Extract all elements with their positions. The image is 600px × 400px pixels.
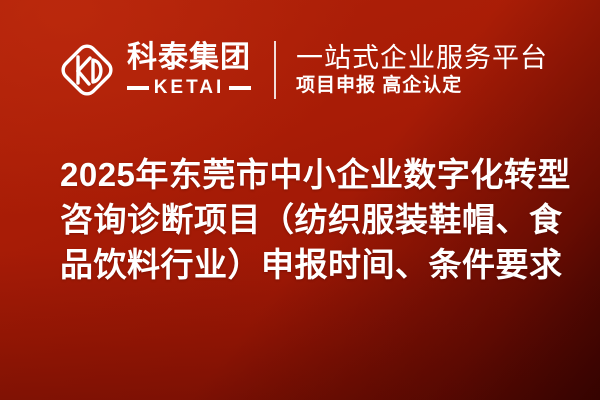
tagline-primary: 一站式企业服务平台	[296, 44, 548, 72]
company-name-en: KETAI	[154, 78, 225, 97]
company-name-en-row: KETAI	[127, 78, 251, 97]
banner-header: 科泰集团 KETAI 一站式企业服务平台 项目申报 高企认定	[0, 0, 600, 140]
company-name-cn: 科泰集团	[127, 43, 251, 73]
tagline-secondary: 项目申报 高企认定	[296, 76, 548, 96]
header-divider	[274, 41, 276, 99]
wordmark-rule-left	[127, 86, 149, 90]
ketai-logo-icon	[58, 41, 116, 99]
promo-banner: 科泰集团 KETAI 一站式企业服务平台 项目申报 高企认定 2025年东莞市中…	[0, 0, 600, 400]
banner-headline: 2025年东莞市中小企业数字化转型 咨询诊断项目（纺织服装鞋帽、食 品饮料行业）…	[60, 152, 576, 287]
headline-line-2: 咨询诊断项目（纺织服装鞋帽、食	[60, 197, 576, 242]
wordmark-rule-right	[229, 86, 251, 90]
tagline-block: 一站式企业服务平台 项目申报 高企认定	[296, 44, 548, 95]
wordmark: 科泰集团 KETAI	[127, 43, 251, 97]
headline-line-1: 2025年东莞市中小企业数字化转型	[60, 152, 576, 197]
headline-line-3: 品饮料行业）申报时间、条件要求	[60, 242, 576, 287]
brand-lockup: 科泰集团 KETAI	[58, 41, 251, 99]
